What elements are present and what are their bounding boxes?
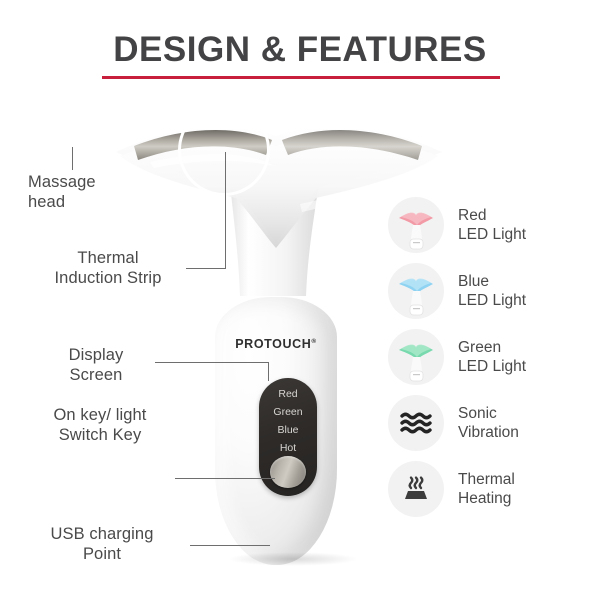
callout-thermal-strip-line2: Induction Strip [28, 268, 188, 288]
device-blue-glow-icon [388, 263, 444, 319]
callout-usb-line2: Point [18, 544, 186, 564]
callout-usb-charging-point: USB charging Point [18, 524, 186, 564]
feature-sonic-line2: Vibration [458, 423, 519, 442]
leader-on-key-horizontal [175, 478, 275, 479]
feature-row-blue-led-light[interactable]: Blue LED Light [388, 258, 594, 324]
feature-green-line1: Green [458, 338, 526, 357]
heat-element-icon [388, 461, 444, 517]
feature-label-red-led-light: Red LED Light [458, 206, 526, 245]
callout-massage-head-line1: Massage [28, 172, 128, 192]
leader-thermal-strip-vertical [225, 152, 226, 269]
leader-thermal-strip-horizontal [186, 268, 226, 269]
feature-row-green-led-light[interactable]: Green LED Light [388, 324, 594, 390]
power-button[interactable] [270, 456, 306, 488]
feature-blue-line2: LED Light [458, 291, 526, 310]
leader-massage-head [72, 147, 73, 170]
page-title: DESIGN & FEATURES [0, 32, 600, 69]
callout-display-screen: Display Screen [40, 345, 152, 385]
display-mode-hot: Hot [259, 439, 317, 457]
device-red-glow-icon [388, 197, 444, 253]
callout-display-screen-line1: Display [40, 345, 152, 365]
callout-massage-head-line2: head [28, 192, 128, 212]
title-underline-rule [102, 76, 500, 79]
feature-red-line2: LED Light [458, 225, 526, 244]
feature-label-blue-led-light: Blue LED Light [458, 272, 526, 311]
feature-list: Red LED Light Blue LED Light [388, 192, 594, 522]
display-mode-green: Green [259, 403, 317, 421]
feature-label-sonic-vibration: Sonic Vibration [458, 404, 519, 443]
feature-label-thermal-heating: Thermal Heating [458, 470, 515, 509]
feature-blue-line1: Blue [458, 272, 526, 291]
feature-green-line2: LED Light [458, 357, 526, 376]
feature-row-thermal-heating[interactable]: Thermal Heating [388, 456, 594, 522]
callout-on-key-line1: On key/ light [26, 405, 174, 425]
callout-on-key-line2: Switch Key [26, 425, 174, 445]
device-green-glow-icon [388, 329, 444, 385]
feature-sonic-line1: Sonic [458, 404, 519, 423]
display-mode-red: Red [259, 385, 317, 403]
page-title-block: DESIGN & FEATURES [0, 32, 600, 69]
wave-lines-icon [388, 395, 444, 451]
leader-usb-horizontal [190, 545, 270, 546]
brand-name: PROTOUCH [235, 337, 311, 351]
callout-massage-head: Massage head [28, 172, 128, 212]
feature-row-red-led-light[interactable]: Red LED Light [388, 192, 594, 258]
registered-trademark-mark: ® [311, 338, 316, 345]
device-drop-shadow [228, 552, 358, 566]
display-mode-list: Red Green Blue Hot [259, 385, 317, 457]
display-mode-blue: Blue [259, 421, 317, 439]
callout-thermal-strip-line1: Thermal [28, 248, 188, 268]
feature-row-sonic-vibration[interactable]: Sonic Vibration [388, 390, 594, 456]
feature-red-line1: Red [458, 206, 526, 225]
brand-logo-text: PROTOUCH® [215, 337, 337, 351]
leader-display-screen-vertical [268, 362, 269, 381]
feature-thermal-line1: Thermal [458, 470, 515, 489]
leader-display-screen-horizontal [155, 362, 269, 363]
callout-display-screen-line2: Screen [40, 365, 152, 385]
feature-label-green-led-light: Green LED Light [458, 338, 526, 377]
design-features-infographic: DESIGN & FEATURES [0, 0, 600, 600]
callout-usb-line1: USB charging [18, 524, 186, 544]
callout-on-key-light-switch-key: On key/ light Switch Key [26, 405, 174, 445]
feature-thermal-line2: Heating [458, 489, 515, 508]
callout-thermal-induction-strip: Thermal Induction Strip [28, 248, 188, 288]
